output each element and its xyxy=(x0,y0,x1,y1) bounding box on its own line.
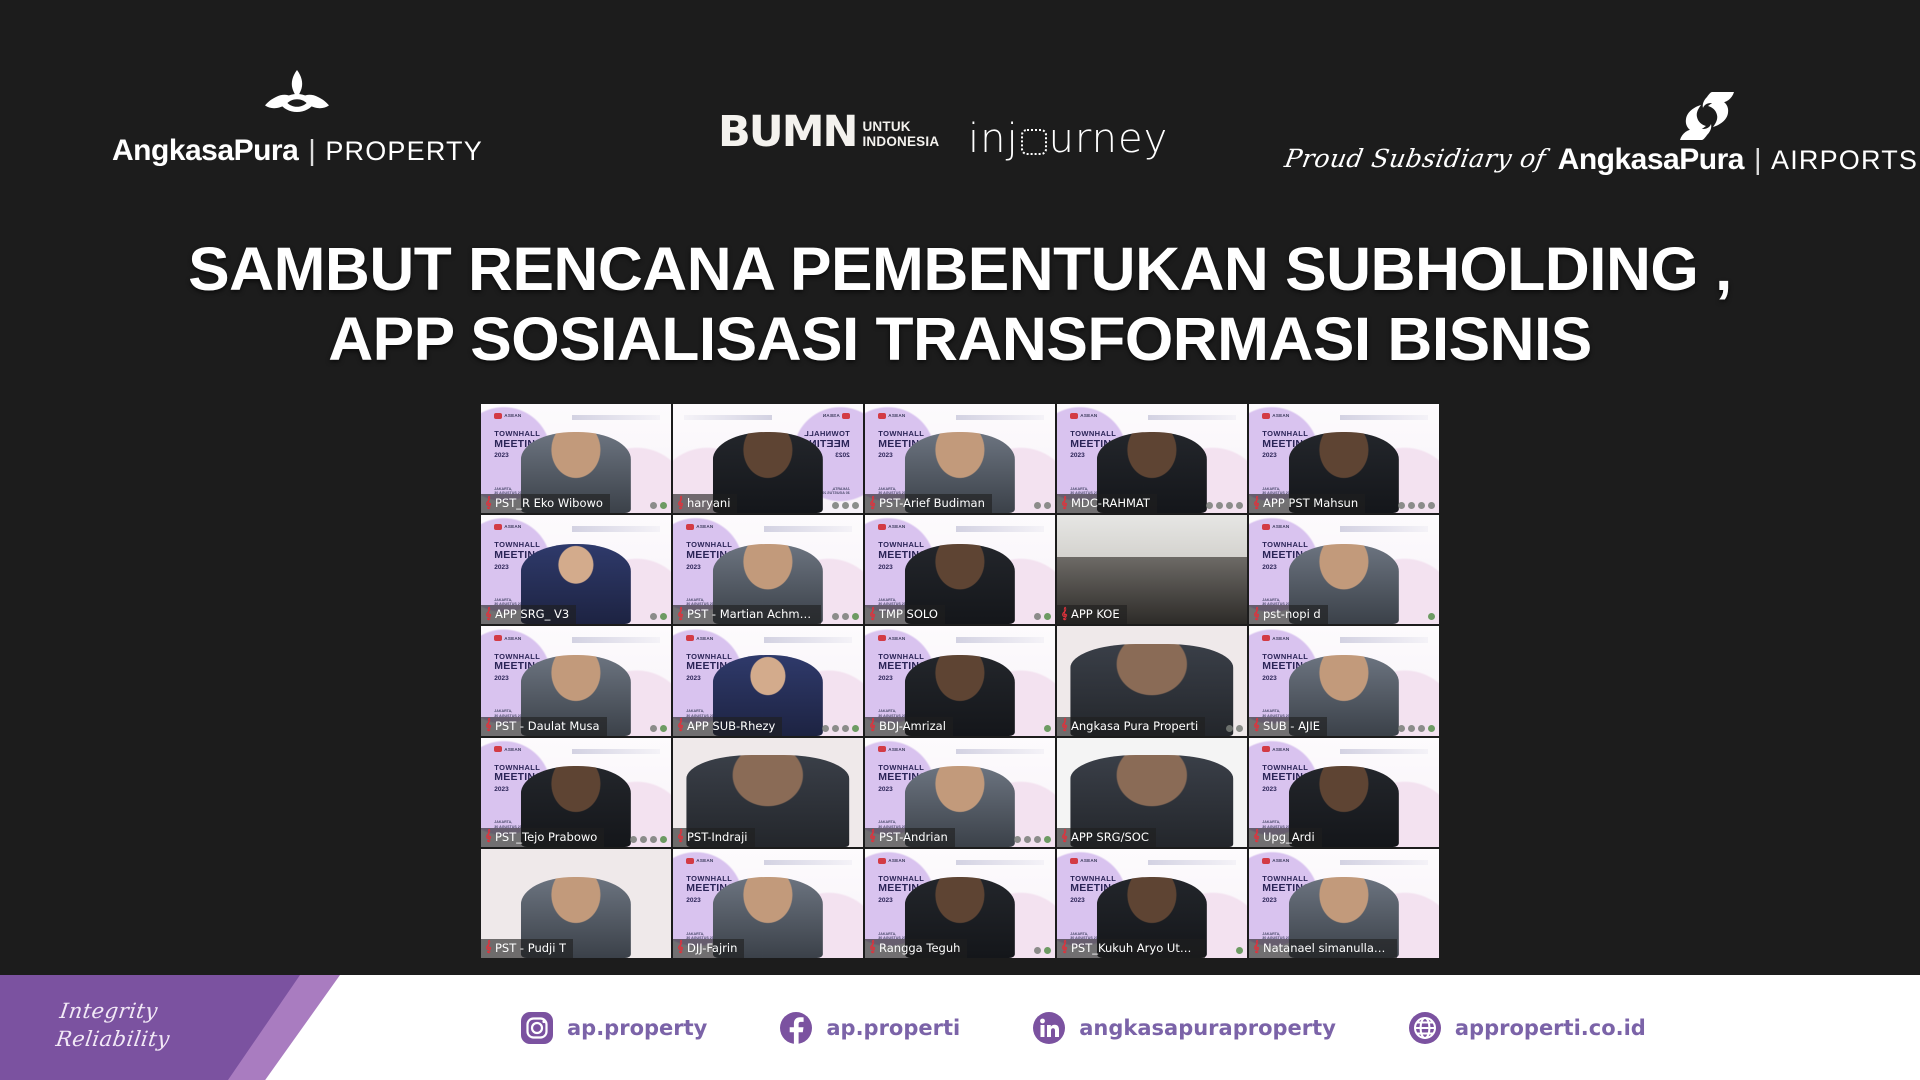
mic-muted-icon: 𝄞 xyxy=(677,609,684,620)
tile-status-dots xyxy=(650,502,667,509)
video-tile[interactable]: ASEANTOWNHALLMEETING II2023JAKARTA,30 AG… xyxy=(1249,404,1439,513)
mic-muted-icon: 𝄞 xyxy=(1253,720,1260,731)
social-handle: approperti.co.id xyxy=(1455,1016,1646,1040)
status-dot xyxy=(1226,725,1233,732)
ap-airports-divider: | xyxy=(1754,144,1761,177)
status-dot xyxy=(852,613,859,620)
asean-logo-icon: ASEAN xyxy=(1070,858,1097,864)
status-dot xyxy=(1428,502,1435,509)
tile-status-dots xyxy=(630,836,667,843)
asean-dot-icon xyxy=(1262,858,1270,864)
tile-status-dots xyxy=(1044,725,1051,732)
lotus-mark-icon xyxy=(264,68,330,130)
mic-muted-icon: 𝄞 xyxy=(485,831,492,842)
title-line-2: APP SOSIALISASI TRANSFORMASI BISNIS xyxy=(0,308,1920,370)
poster-top-stripe xyxy=(956,637,1043,642)
poster-top-stripe xyxy=(1340,749,1427,754)
asean-dot-icon xyxy=(686,858,694,864)
status-dot xyxy=(650,836,657,843)
poster-footer: JAKARTA,30 AGUSTUS 2023 xyxy=(818,487,849,496)
participant-name: APP SUB-Rhezy xyxy=(687,719,775,733)
tile-status-dots xyxy=(1226,725,1243,732)
participant-name-bar: 𝄞haryani xyxy=(673,494,737,513)
social-link-linkedin[interactable]: angkasapuraproperty xyxy=(1032,1011,1336,1045)
angkasa-pura-airports-logo: Proud Subsidiary of AngkasaPura | AIRPOR… xyxy=(1285,90,1918,177)
asean-label: ASEAN xyxy=(504,524,521,529)
tile-status-dots xyxy=(1034,502,1051,509)
mic-muted-icon: 𝄞 xyxy=(1061,831,1068,842)
participant-name: Upg_Ardi xyxy=(1263,830,1315,844)
participant-name: MDC-RAHMAT xyxy=(1071,496,1150,510)
asean-label: ASEAN xyxy=(696,524,713,529)
social-links: ap.propertyap.propertiangkasapurapropert… xyxy=(520,975,1520,1080)
social-link-globe[interactable]: approperti.co.id xyxy=(1408,1011,1646,1045)
video-tile[interactable]: ASEANTOWNHALLMEETING II2023JAKARTA,30 AG… xyxy=(865,738,1055,847)
asean-label: ASEAN xyxy=(888,413,905,418)
status-dot xyxy=(1398,502,1405,509)
poster-top-stripe xyxy=(572,415,659,420)
asean-logo-icon: ASEAN xyxy=(878,858,905,864)
status-dot xyxy=(660,502,667,509)
participant-name: PST - Martian Achmad Re... xyxy=(687,607,814,621)
participant-name: PST-Arief Budiman xyxy=(879,496,985,510)
social-handle: ap.properti xyxy=(826,1016,960,1040)
status-dot xyxy=(1044,947,1051,954)
participant-name-bar: 𝄞PST_Kukuh Aryo Utomo xyxy=(1057,939,1205,958)
social-link-instagram[interactable]: ap.property xyxy=(520,1011,707,1045)
status-dot xyxy=(852,502,859,509)
video-tile[interactable]: 𝄞APP KOE xyxy=(1057,515,1247,624)
mic-muted-icon: 𝄞 xyxy=(869,609,876,620)
video-tile[interactable]: 𝄞Angkasa Pura Properti xyxy=(1057,626,1247,735)
status-dot xyxy=(660,613,667,620)
status-dot xyxy=(1236,725,1243,732)
ap-property-divider: | xyxy=(308,135,315,168)
asean-dot-icon xyxy=(686,524,694,530)
status-dot xyxy=(1408,502,1415,509)
poster-top-stripe xyxy=(572,637,659,642)
asean-label: ASEAN xyxy=(888,858,905,863)
video-tile[interactable]: ASEANTOWNHALLMEETING II2023JAKARTA,30 AG… xyxy=(1057,404,1247,513)
asean-logo-icon: ASEAN xyxy=(823,413,850,419)
status-dot xyxy=(1034,836,1041,843)
participant-name: DJJ-Fajrin xyxy=(687,941,737,955)
video-tile[interactable]: ASEANTOWNHALLMEETING II2023JAKARTA,30 AG… xyxy=(673,515,863,624)
asean-logo-icon: ASEAN xyxy=(686,524,713,530)
asean-logo-icon: ASEAN xyxy=(1262,858,1289,864)
participant-name-bar: 𝄞APP KOE xyxy=(1057,605,1127,624)
mic-muted-icon: 𝄞 xyxy=(1253,498,1260,509)
bumn-wordmark: BUMN xyxy=(718,112,856,153)
mic-muted-icon: 𝄞 xyxy=(1061,720,1068,731)
status-dot xyxy=(650,725,657,732)
video-tile[interactable]: ASEANTOWNHALLMEETING II2023JAKARTA,30 AG… xyxy=(865,626,1055,735)
poster-top-stripe xyxy=(1340,637,1427,642)
participant-name: APP KOE xyxy=(1071,607,1120,621)
asean-logo-icon: ASEAN xyxy=(878,746,905,752)
participant-name-bar: 𝄞PST - Pudji T xyxy=(481,939,573,958)
poster-top-stripe xyxy=(1148,860,1235,865)
asean-logo-icon: ASEAN xyxy=(686,858,713,864)
asean-logo-icon: ASEAN xyxy=(878,635,905,641)
mic-muted-icon: 𝄞 xyxy=(485,609,492,620)
participant-name: pst-nopi d xyxy=(1263,607,1321,621)
mic-muted-icon: 𝄞 xyxy=(869,720,876,731)
status-dot xyxy=(1044,613,1051,620)
status-dot xyxy=(1044,725,1051,732)
ap-airports-name-2: Pura xyxy=(1679,143,1744,177)
status-dot xyxy=(1428,725,1435,732)
social-handle: ap.property xyxy=(567,1016,707,1040)
participant-name: PST-Andrian xyxy=(879,830,948,844)
globe-icon xyxy=(1408,1011,1442,1045)
participant-name: APP SRG_ V3 xyxy=(495,607,569,621)
ap-airports-name: Angkasa xyxy=(1558,143,1680,177)
status-dot xyxy=(842,725,849,732)
participant-name-bar: 𝄞APP SRG/SOC xyxy=(1057,828,1156,847)
bumn-tagline-line1: UNTUK xyxy=(862,120,939,135)
linkedin-icon xyxy=(1032,1011,1066,1045)
asean-dot-icon xyxy=(878,858,886,864)
asean-label: ASEAN xyxy=(888,524,905,529)
status-dot xyxy=(832,613,839,620)
value-reliability: Reliability xyxy=(54,1025,172,1053)
ap-property-name: Angkasa xyxy=(112,134,234,168)
poster-top-stripe xyxy=(1148,415,1235,420)
status-dot xyxy=(1014,836,1021,843)
participant-name: Angkasa Pura Properti xyxy=(1071,719,1198,733)
asean-label: ASEAN xyxy=(1080,858,1097,863)
tile-status-dots xyxy=(1398,502,1435,509)
asean-label: ASEAN xyxy=(696,858,713,863)
video-tile[interactable]: ASEANTOWNHALLMEETING II2023JAKARTA,30 AG… xyxy=(865,515,1055,624)
poster-top-stripe xyxy=(956,860,1043,865)
mic-muted-icon: 𝄞 xyxy=(677,831,684,842)
video-tile[interactable]: 𝄞APP SRG/SOC xyxy=(1057,738,1247,847)
asean-logo-icon: ASEAN xyxy=(494,524,521,530)
ap-property-name-2: Pura xyxy=(234,134,299,168)
status-dot xyxy=(1226,502,1233,509)
participant-name-bar: 𝄞APP SRG_ V3 xyxy=(481,605,576,624)
video-tile[interactable]: ASEANTOWNHALLMEETING II2023JAKARTA,30 AG… xyxy=(481,515,671,624)
participant-name-bar: 𝄞pst-nopi d xyxy=(1249,605,1328,624)
asean-dot-icon xyxy=(494,746,502,752)
asean-dot-icon xyxy=(1262,413,1270,419)
value-integrity: Integrity xyxy=(58,997,176,1025)
video-tile[interactable]: ASEANTOWNHALLMEETING II2023JAKARTA,30 AG… xyxy=(1249,515,1439,624)
participant-name: SUB - AJIE xyxy=(1263,719,1320,733)
status-dot xyxy=(650,502,657,509)
poster-top-stripe xyxy=(956,415,1043,420)
participant-name: BDJ-Amrizal xyxy=(879,719,946,733)
footer-bar: Integrity Reliability ap.propertyap.prop… xyxy=(0,975,1920,1080)
participant-name-bar: 𝄞Rangga Teguh xyxy=(865,939,967,958)
participant-name-bar: 𝄞MDC-RAHMAT xyxy=(1057,494,1157,513)
instagram-icon xyxy=(520,1011,554,1045)
tile-status-dots xyxy=(1428,613,1435,620)
video-tile[interactable]: ASEANTOWNHALLMEETING II2023JAKARTA,30 AG… xyxy=(673,404,863,513)
poster-top-stripe xyxy=(572,749,659,754)
status-dot xyxy=(630,836,637,843)
mic-muted-icon: 𝄞 xyxy=(677,942,684,953)
video-tile[interactable]: ASEANTOWNHALLMEETING II2023JAKARTA,30 AG… xyxy=(481,738,671,847)
asean-label: ASEAN xyxy=(888,747,905,752)
asean-logo-icon: ASEAN xyxy=(878,524,905,530)
ap-airports-suffix: AIRPORTS xyxy=(1771,145,1918,176)
participant-name: PST-Indraji xyxy=(687,830,748,844)
asean-dot-icon xyxy=(1262,524,1270,530)
video-tile[interactable]: ASEANTOWNHALLMEETING II2023JAKARTA,30 AG… xyxy=(865,849,1055,958)
mic-muted-icon: 𝄞 xyxy=(869,942,876,953)
tile-status-dots xyxy=(1206,502,1243,509)
participant-name-bar: 𝄞PST-Andrian xyxy=(865,828,955,847)
participant-name: APP PST Mahsun xyxy=(1263,496,1358,510)
mic-muted-icon: 𝄞 xyxy=(869,498,876,509)
status-dot xyxy=(832,725,839,732)
asean-label: ASEAN xyxy=(1272,747,1289,752)
participant-name-bar: 𝄞PST_Tejo Prabowo xyxy=(481,828,604,847)
asean-label: ASEAN xyxy=(696,636,713,641)
poster-top-stripe xyxy=(1340,526,1427,531)
poster-top-stripe xyxy=(956,526,1043,531)
mic-muted-icon: 𝄞 xyxy=(1253,942,1260,953)
asean-dot-icon xyxy=(494,635,502,641)
mic-muted-icon: 𝄞 xyxy=(1061,498,1068,509)
participant-name-bar: 𝄞PST_R Eko Wibowo xyxy=(481,494,610,513)
participant-name: haryani xyxy=(687,496,730,510)
poster-top-stripe xyxy=(956,749,1043,754)
social-link-facebook[interactable]: ap.properti xyxy=(779,1011,960,1045)
asean-label: ASEAN xyxy=(888,636,905,641)
tile-status-dots xyxy=(1014,836,1051,843)
participant-name: Rangga Teguh xyxy=(879,941,960,955)
asean-logo-icon: ASEAN xyxy=(494,746,521,752)
asean-dot-icon xyxy=(494,524,502,530)
angkasa-pura-property-logo: AngkasaPura | PROPERTY xyxy=(112,68,483,168)
asean-label: ASEAN xyxy=(823,413,840,418)
bumn-tagline-line2: INDONESIA xyxy=(862,135,939,150)
video-tile[interactable]: ASEANTOWNHALLMEETING II2023JAKARTA,30 AG… xyxy=(1057,849,1247,958)
title-line-1: SAMBUT RENCANA PEMBENTUKAN SUBHOLDING , xyxy=(0,238,1920,300)
poster-top-stripe xyxy=(764,637,851,642)
mic-muted-icon: 𝄞 xyxy=(677,720,684,731)
status-dot xyxy=(650,613,657,620)
status-dot xyxy=(1024,836,1031,843)
poster-top-stripe xyxy=(1340,860,1427,865)
asean-label: ASEAN xyxy=(1272,524,1289,529)
asean-dot-icon xyxy=(878,746,886,752)
status-dot xyxy=(1034,613,1041,620)
status-dot xyxy=(832,502,839,509)
asean-label: ASEAN xyxy=(1080,413,1097,418)
mic-muted-icon: 𝄞 xyxy=(1253,831,1260,842)
injourney-text-before: inj xyxy=(968,116,1019,162)
participant-name-bar: 𝄞DJJ-Fajrin xyxy=(673,939,744,958)
participant-name-bar: 𝄞TMP SOLO xyxy=(865,605,945,624)
mic-muted-icon: 𝄞 xyxy=(1061,609,1068,620)
status-dot xyxy=(842,502,849,509)
mic-muted-icon: 𝄞 xyxy=(1061,942,1068,953)
mic-muted-icon: 𝄞 xyxy=(1253,609,1260,620)
status-dot xyxy=(1044,836,1051,843)
tile-status-dots xyxy=(650,725,667,732)
participant-name: PST_Tejo Prabowo xyxy=(495,830,597,844)
mic-muted-icon: 𝄞 xyxy=(485,498,492,509)
status-dot xyxy=(1418,502,1425,509)
asean-dot-icon xyxy=(878,524,886,530)
asean-dot-icon xyxy=(842,413,850,419)
participant-name-bar: 𝄞PST - Martian Achmad Re... xyxy=(673,605,821,624)
status-dot xyxy=(1034,947,1041,954)
poster-top-stripe xyxy=(764,526,851,531)
asean-label: ASEAN xyxy=(504,636,521,641)
poster-top-stripe xyxy=(1340,415,1427,420)
status-dot xyxy=(660,725,667,732)
poster-top-stripe xyxy=(572,526,659,531)
participant-name: TMP SOLO xyxy=(879,607,938,621)
participant-name-bar: 𝄞PST - Daulat Musa xyxy=(481,717,607,736)
status-dot xyxy=(822,725,829,732)
video-tile[interactable]: ASEANTOWNHALLMEETING II2023JAKARTA,30 AG… xyxy=(481,404,671,513)
video-tile[interactable]: ASEANTOWNHALLMEETING II2023JAKARTA,30 AG… xyxy=(673,849,863,958)
participant-name-bar: 𝄞PST-Indraji xyxy=(673,828,755,847)
participant-name-bar: 𝄞PST-Arief Budiman xyxy=(865,494,992,513)
social-handle: angkasapuraproperty xyxy=(1079,1016,1336,1040)
poster-top-stripe xyxy=(684,415,771,420)
dotted-o-icon xyxy=(1021,129,1047,155)
video-tile[interactable]: ASEANTOWNHALLMEETING II2023JAKARTA,30 AG… xyxy=(1249,849,1439,958)
participant-name: PST - Daulat Musa xyxy=(495,719,600,733)
asean-logo-icon: ASEAN xyxy=(1070,413,1097,419)
participant-name-bar: 𝄞APP PST Mahsun xyxy=(1249,494,1365,513)
participant-name-bar: 𝄞Angkasa Pura Properti xyxy=(1057,717,1205,736)
asean-logo-icon: ASEAN xyxy=(1262,746,1289,752)
asean-label: ASEAN xyxy=(504,747,521,752)
injourney-logo: inj urney xyxy=(968,116,1168,162)
tile-status-dots xyxy=(1398,725,1435,732)
status-dot xyxy=(842,613,849,620)
mic-muted-icon: 𝄞 xyxy=(869,831,876,842)
tile-status-dots xyxy=(822,725,859,732)
asean-label: ASEAN xyxy=(1272,636,1289,641)
participant-name-bar: 𝄞APP SUB-Rhezy xyxy=(673,717,782,736)
participant-name: PST_Kukuh Aryo Utomo xyxy=(1071,941,1198,955)
video-tile[interactable]: ASEANTOWNHALLMEETING II2023JAKARTA,30 AG… xyxy=(1249,738,1439,847)
asean-dot-icon xyxy=(1070,413,1078,419)
tile-status-dots xyxy=(1236,947,1243,954)
mic-muted-icon: 𝄞 xyxy=(485,942,492,953)
participant-name: APP SRG/SOC xyxy=(1071,830,1149,844)
asean-dot-icon xyxy=(1070,858,1078,864)
asean-logo-icon: ASEAN xyxy=(686,635,713,641)
poster-date: 30 AGUSTUS 2023 xyxy=(818,491,849,495)
video-call-grid: ASEANTOWNHALLMEETING II2023JAKARTA,30 AG… xyxy=(481,404,1439,958)
page-title: SAMBUT RENCANA PEMBENTUKAN SUBHOLDING , … xyxy=(0,238,1920,370)
status-dot xyxy=(1044,502,1051,509)
tile-status-dots xyxy=(832,502,859,509)
asean-logo-icon: ASEAN xyxy=(494,635,521,641)
asean-dot-icon xyxy=(1262,746,1270,752)
header-logo-bar: AngkasaPura | PROPERTY BUMN UNTUK INDONE… xyxy=(0,0,1920,200)
asean-logo-icon: ASEAN xyxy=(878,413,905,419)
status-dot xyxy=(1398,725,1405,732)
tile-status-dots xyxy=(650,613,667,620)
participant-name-bar: 𝄞SUB - AJIE xyxy=(1249,717,1327,736)
status-dot xyxy=(1408,725,1415,732)
ap-property-suffix: PROPERTY xyxy=(325,136,483,167)
status-dot xyxy=(660,836,667,843)
asean-dot-icon xyxy=(878,413,886,419)
status-dot xyxy=(1236,947,1243,954)
facebook-icon xyxy=(779,1011,813,1045)
asean-logo-icon: ASEAN xyxy=(1262,635,1289,641)
status-dot xyxy=(1428,613,1435,620)
asean-logo-icon: ASEAN xyxy=(1262,413,1289,419)
tile-status-dots xyxy=(1034,947,1051,954)
proud-subsidiary-script: Proud Subsidiary of xyxy=(1282,144,1548,173)
status-dot xyxy=(640,836,647,843)
bumn-logo: BUMN UNTUK INDONESIA xyxy=(718,112,939,153)
video-tile[interactable]: ASEANTOWNHALLMEETING II2023JAKARTA,30 AG… xyxy=(673,626,863,735)
participant-name: PST_R Eko Wibowo xyxy=(495,496,603,510)
asean-logo-icon: ASEAN xyxy=(1262,524,1289,530)
status-dot xyxy=(1216,502,1223,509)
asean-dot-icon xyxy=(878,635,886,641)
asean-label: ASEAN xyxy=(1272,858,1289,863)
tile-status-dots xyxy=(832,613,859,620)
participant-name-bar: 𝄞Natanael simanullang-YIA xyxy=(1249,939,1397,958)
asean-dot-icon xyxy=(1262,635,1270,641)
status-dot xyxy=(1034,502,1041,509)
participant-name: Natanael simanullang-YIA xyxy=(1263,941,1390,955)
asean-logo-icon: ASEAN xyxy=(494,413,521,419)
tile-status-dots xyxy=(1034,613,1051,620)
asean-label: ASEAN xyxy=(1272,413,1289,418)
status-dot xyxy=(1418,725,1425,732)
company-values: Integrity Reliability xyxy=(54,997,176,1054)
mic-muted-icon: 𝄞 xyxy=(677,498,684,509)
video-tile[interactable]: 𝄞PST-Indraji xyxy=(673,738,863,847)
asean-dot-icon xyxy=(686,635,694,641)
status-dot xyxy=(852,725,859,732)
poster-top-stripe xyxy=(764,860,851,865)
status-dot xyxy=(1236,502,1243,509)
interlock-s-mark-icon xyxy=(1676,90,1738,142)
asean-dot-icon xyxy=(494,413,502,419)
video-tile[interactable]: ASEANTOWNHALLMEETING II2023JAKARTA,30 AG… xyxy=(481,626,671,735)
participant-name-bar: 𝄞Upg_Ardi xyxy=(1249,828,1322,847)
video-tile[interactable]: 𝄞PST - Pudji T xyxy=(481,849,671,958)
asean-label: ASEAN xyxy=(504,413,521,418)
mic-muted-icon: 𝄞 xyxy=(485,720,492,731)
participant-name: PST - Pudji T xyxy=(495,941,566,955)
status-dot xyxy=(1206,502,1213,509)
injourney-text-after: urney xyxy=(1049,116,1169,162)
video-tile[interactable]: ASEANTOWNHALLMEETING II2023JAKARTA,30 AG… xyxy=(1249,626,1439,735)
participant-name-bar: 𝄞BDJ-Amrizal xyxy=(865,717,953,736)
video-tile[interactable]: ASEANTOWNHALLMEETING I2023JAKARTA,30 AGU… xyxy=(865,404,1055,513)
